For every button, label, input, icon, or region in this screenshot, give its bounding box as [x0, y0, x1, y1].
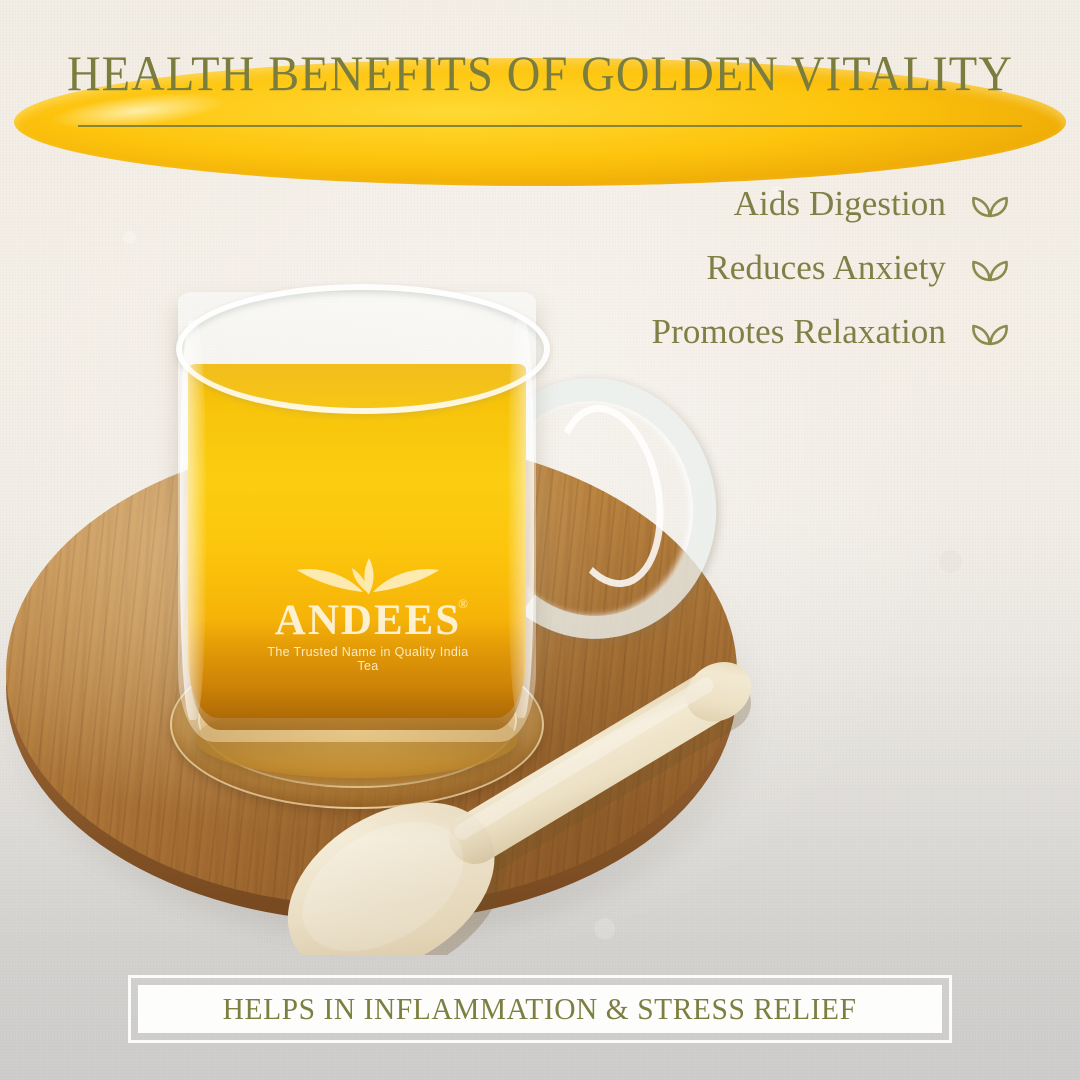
wooden-spoon — [250, 655, 810, 955]
benefit-label: Aids Digestion — [734, 184, 946, 224]
bottom-banner: HELPS IN INFLAMMATION & STRESS RELIEF — [128, 975, 952, 1043]
leaf-sprout-icon — [970, 187, 1010, 221]
bottom-banner-text: HELPS IN INFLAMMATION & STRESS RELIEF — [223, 991, 857, 1027]
benefit-item: Promotes Relaxation — [490, 300, 1010, 364]
glass-highlight-left — [180, 320, 206, 720]
benefits-list: Aids Digestion Reduces Anxiety Promotes … — [490, 172, 1010, 364]
benefit-item: Aids Digestion — [490, 172, 1010, 236]
leaf-sprout-icon — [970, 251, 1010, 285]
benefit-label: Promotes Relaxation — [652, 312, 947, 352]
bottom-banner-inner: HELPS IN INFLAMMATION & STRESS RELIEF — [138, 985, 942, 1033]
benefit-item: Reduces Anxiety — [490, 236, 1010, 300]
product-photo: ANDEES ® The Trusted Name in Quality Ind… — [0, 0, 1080, 1080]
leaf-sprout-icon — [970, 315, 1010, 349]
poster-canvas: ANDEES ® The Trusted Name in Quality Ind… — [0, 0, 1080, 1080]
benefit-label: Reduces Anxiety — [706, 248, 946, 288]
page-title: HEALTH BENEFITS OF GOLDEN VITALITY — [38, 48, 1042, 98]
title-divider — [78, 125, 1022, 127]
